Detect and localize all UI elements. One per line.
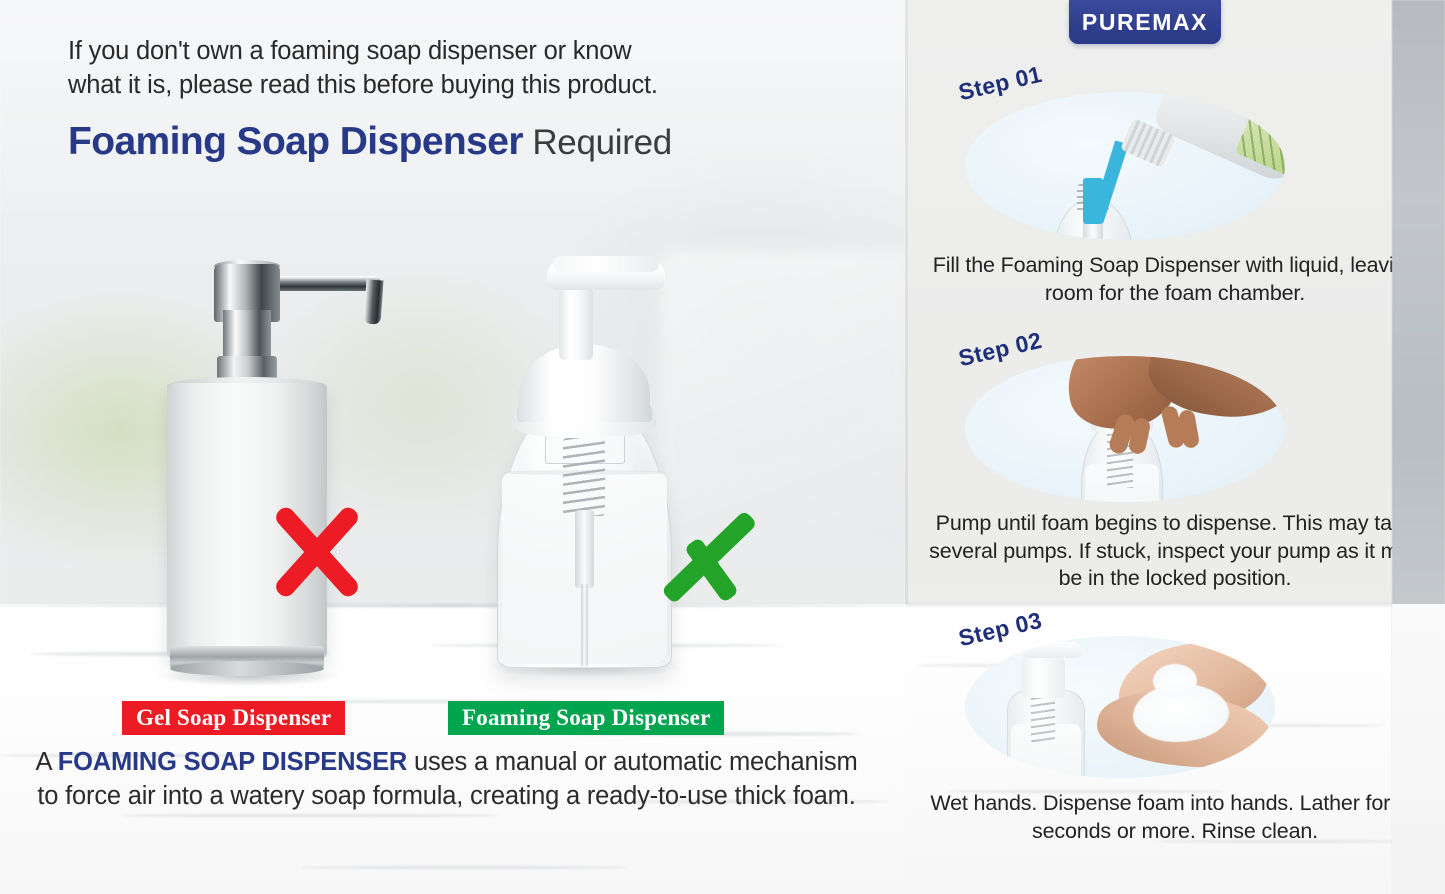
right-edge-strip-lower: [1392, 604, 1445, 894]
step-02-text: Pump until foam begins to dispense. This…: [925, 510, 1425, 593]
countertop-edge: [0, 604, 905, 607]
gel-soap-dispenser-label: Gel Soap Dispenser: [122, 701, 345, 735]
step-03-text: Wet hands. Dispense foam into hands. Lat…: [925, 790, 1425, 845]
foaming-soap-dispenser-label: Foaming Soap Dispenser: [448, 701, 724, 735]
green-check-icon: [694, 492, 826, 602]
description-paragraph: A FOAMING SOAP DISPENSER uses a manual o…: [24, 746, 869, 814]
step-03-pump-head: [1023, 642, 1081, 658]
gel-soap-dispenser-image: [167, 258, 327, 683]
gel-spout: [271, 276, 381, 291]
page-title-suffix: Required: [523, 123, 672, 162]
intro-line-1: If you don't own a foaming soap dispense…: [68, 34, 858, 68]
step-02-label: Step 02: [956, 327, 1045, 372]
description-prefix: A: [35, 748, 57, 776]
step-02-illustration: [965, 356, 1285, 502]
page-title-emphasis: Foaming Soap Dispenser: [68, 120, 523, 163]
intro-text: If you don't own a foaming soap dispense…: [68, 34, 858, 102]
page-title: Foaming Soap Dispenser Required: [68, 120, 868, 165]
instructions-panel: Step 01 Fill the Foaming Soap Dispenser …: [905, 0, 1445, 894]
intro-line-2: what it is, please read this before buyi…: [68, 68, 858, 102]
step-03-illustration: [965, 636, 1275, 778]
pump-spring: [563, 438, 605, 516]
red-x-icon: [253, 488, 381, 616]
step-01-text: Fill the Foaming Soap Dispenser with liq…: [925, 252, 1425, 307]
brand-badge: PUREMAX: [1069, 0, 1221, 44]
left-panel: If you don't own a foaming soap dispense…: [0, 0, 905, 894]
infographic-page: If you don't own a foaming soap dispense…: [0, 0, 1445, 894]
step-01-illustration: [965, 92, 1285, 240]
foaming-soap-dispenser-image: [497, 248, 672, 688]
panel-divider: [905, 0, 908, 604]
description-emphasis: FOAMING SOAP DISPENSER: [58, 748, 407, 776]
step-01-label: Step 01: [956, 61, 1045, 106]
